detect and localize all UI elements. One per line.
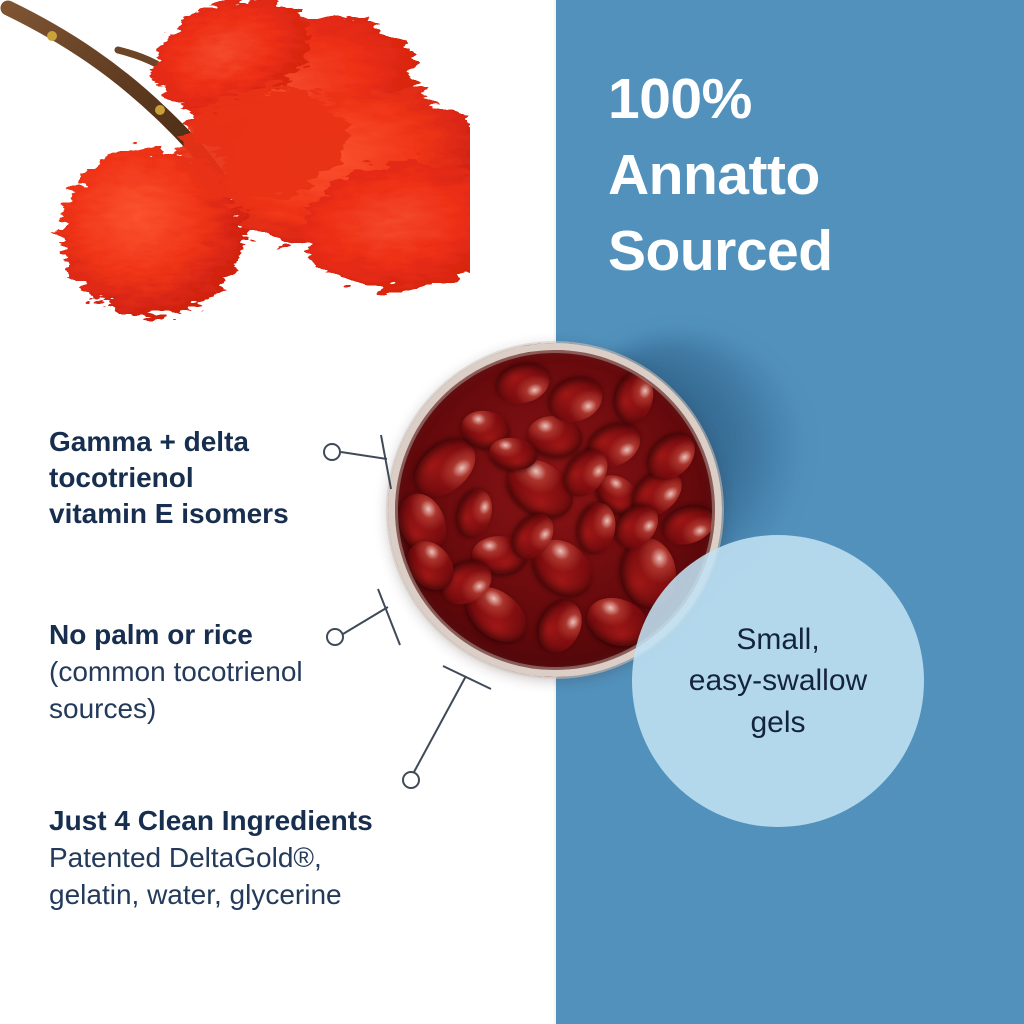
callout-2-heading: No palm or rice bbox=[49, 617, 394, 653]
callout-clean-ingredients: Just 4 Clean Ingredients Patented DeltaG… bbox=[49, 803, 499, 913]
easy-swallow-badge: Small, easy-swallow gels bbox=[632, 535, 924, 827]
callout-3-subtext: Patented DeltaGold®, gelatin, water, gly… bbox=[49, 839, 499, 913]
annatto-pods-image bbox=[0, 0, 470, 339]
headline-line-2: Annatto bbox=[608, 138, 1008, 214]
page-title: 100% Annatto Sourced bbox=[608, 62, 1008, 289]
softgel-capsule bbox=[610, 369, 658, 427]
softgel-capsule bbox=[530, 594, 590, 660]
callout-1-heading: Gamma + delta tocotrienol vitamin E isom… bbox=[49, 424, 379, 531]
headline-line-3: Sourced bbox=[608, 214, 1008, 290]
softgel-capsule bbox=[453, 486, 498, 542]
callout-3-heading: Just 4 Clean Ingredients bbox=[49, 803, 499, 839]
easy-swallow-badge-label: Small, easy-swallow gels bbox=[689, 619, 867, 743]
callout-2-subtext: (common tocotrienol sources) bbox=[49, 653, 394, 727]
headline-line-1: 100% bbox=[608, 62, 1008, 138]
callout-tocotrienol-isomers: Gamma + delta tocotrienol vitamin E isom… bbox=[49, 424, 379, 531]
softgel-capsule bbox=[492, 358, 554, 409]
product-infographic: 100% Annatto Sourced Small, easy-swallow… bbox=[0, 0, 1024, 1024]
callout-no-palm-or-rice: No palm or rice (common tocotrienol sour… bbox=[49, 617, 394, 727]
